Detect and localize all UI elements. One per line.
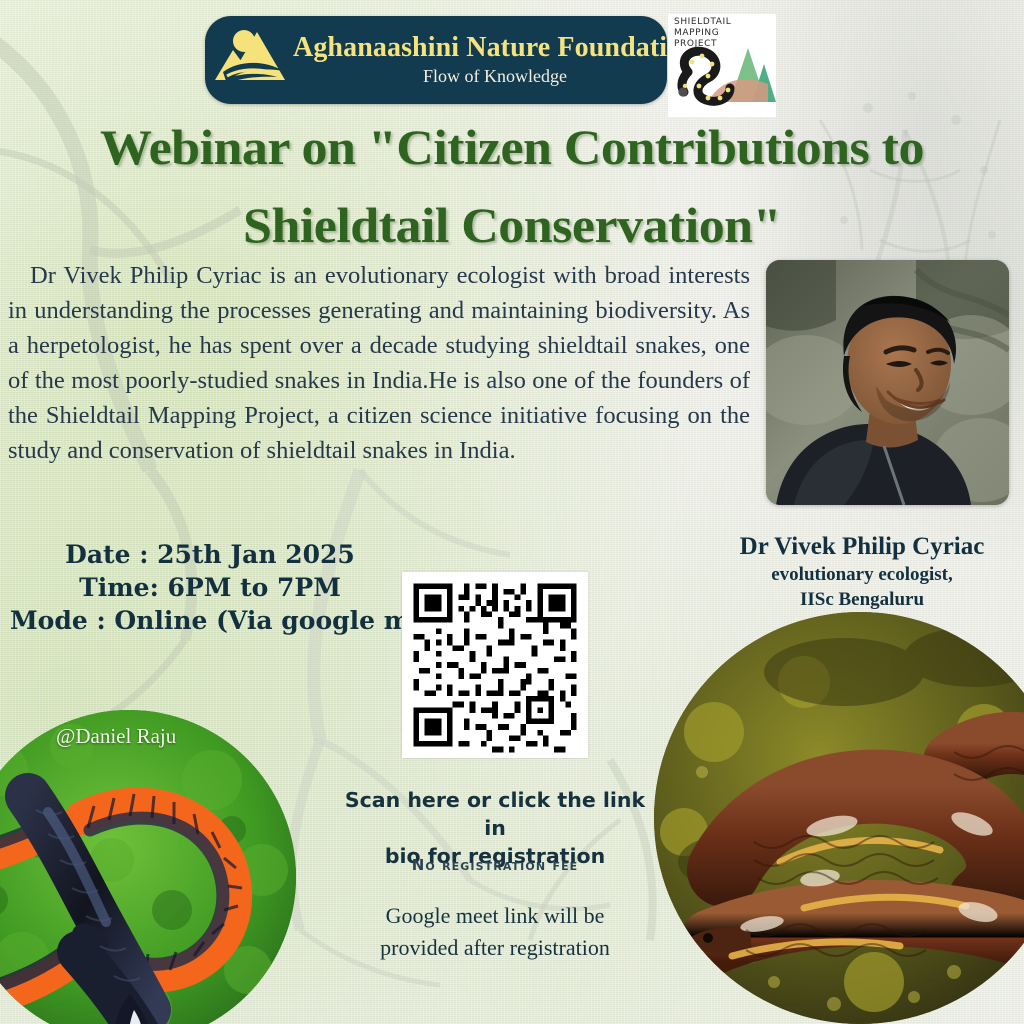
webinar-poster: Aghanaashini Nature Foundation Flow of K… (0, 0, 1024, 1024)
event-date: Date : 25th Jan 2025 (10, 538, 410, 571)
qr-code-image[interactable] (402, 572, 588, 758)
page-title: Webinar on "Citizen Contributions to Shi… (0, 108, 1024, 264)
event-details: Date : 25th Jan 2025 Time: 6PM to 7PM Mo… (10, 538, 410, 637)
google-meet-note-line2: provided after registration (330, 932, 660, 964)
speaker-portrait (766, 260, 1009, 505)
header: Aghanaashini Nature Foundation Flow of K… (0, 14, 1024, 114)
event-mode: Mode : Online (Via google meet) (10, 604, 410, 637)
speaker-name: Dr Vivek Philip Cyriac (700, 532, 1024, 562)
registration-fee-note: No registration fee (336, 856, 654, 874)
speaker-organisation: IISc Bengaluru (700, 587, 1024, 612)
organisation-name: Aghanaashini Nature Foundation (293, 33, 697, 62)
event-time: Time: 6PM to 7PM (10, 571, 410, 604)
title-line-2: Shieldtail Conservation" (0, 186, 1024, 264)
organisation-banner: Aghanaashini Nature Foundation Flow of K… (205, 16, 667, 104)
speaker-caption: Dr Vivek Philip Cyriac evolutionary ecol… (700, 532, 1024, 612)
google-meet-note: Google meet link will be provided after … (330, 900, 660, 964)
shieldtail-mapping-project-logo: SHIELDTAIL MAPPING PROJECT (668, 14, 776, 117)
registration-qr-code[interactable] (402, 572, 588, 758)
google-meet-note-line1: Google meet link will be (330, 900, 660, 932)
speaker-bio: Dr Vivek Philip Cyriac is an evolutionar… (8, 258, 750, 468)
partner-logo-caption: SHIELDTAIL MAPPING PROJECT (674, 17, 731, 50)
speaker-role: evolutionary ecologist, (700, 562, 1024, 587)
title-line-1: Webinar on "Citizen Contributions to (0, 108, 1024, 186)
mountain-sun-river-icon (213, 24, 293, 96)
scan-instruction-line1: Scan here or click the link in (336, 786, 654, 842)
organisation-tagline: Flow of Knowledge (293, 66, 697, 87)
partner-logo-line3: PROJECT (674, 39, 731, 50)
partner-logo-line2: MAPPING (674, 28, 731, 39)
partner-logo-line1: SHIELDTAIL (674, 17, 731, 28)
photo-credit: @Daniel Raju (56, 724, 176, 749)
